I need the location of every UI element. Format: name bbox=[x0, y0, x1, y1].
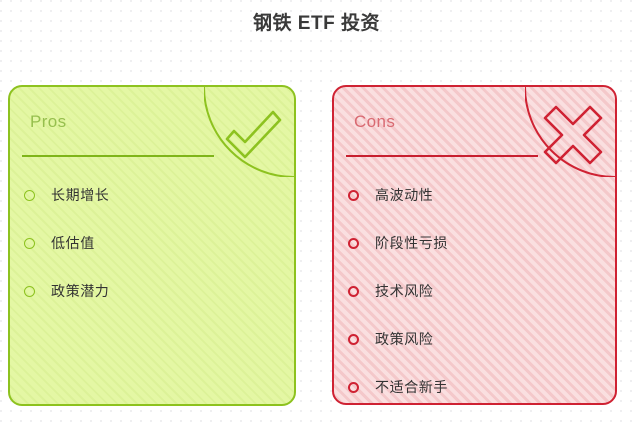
list-item-label: 政策风险 bbox=[375, 329, 433, 349]
cons-item-list: 高波动性 阶段性亏损 技术风险 政策风险 不适合新手 bbox=[346, 171, 607, 405]
pros-card-divider bbox=[22, 155, 214, 157]
list-item[interactable]: 技术风险 bbox=[346, 267, 607, 315]
list-item-label: 阶段性亏损 bbox=[375, 233, 448, 253]
check-mark-icon bbox=[227, 112, 280, 157]
pros-corner-badge bbox=[204, 85, 296, 177]
circle-bullet-icon bbox=[348, 190, 359, 201]
list-item-label: 长期增长 bbox=[51, 185, 109, 205]
circle-bullet-icon bbox=[24, 190, 35, 201]
cross-mark-icon bbox=[545, 107, 601, 163]
list-item[interactable]: 不适合新手 bbox=[346, 363, 607, 405]
pros-card-title: Pros bbox=[30, 112, 67, 132]
list-item-label: 不适合新手 bbox=[375, 377, 448, 397]
list-item[interactable]: 长期增长 bbox=[22, 171, 286, 219]
circle-bullet-icon bbox=[348, 382, 359, 393]
cons-card-divider bbox=[346, 155, 538, 157]
circle-bullet-icon bbox=[348, 238, 359, 249]
list-item[interactable]: 高波动性 bbox=[346, 171, 607, 219]
list-item-label: 技术风险 bbox=[375, 281, 433, 301]
circle-bullet-icon bbox=[24, 286, 35, 297]
circle-bullet-icon bbox=[24, 238, 35, 249]
circle-bullet-icon bbox=[348, 334, 359, 345]
pros-item-list: 长期增长 低估值 政策潜力 bbox=[22, 171, 286, 315]
list-item-label: 高波动性 bbox=[375, 185, 433, 205]
list-item-label: 低估值 bbox=[51, 233, 95, 253]
circle-bullet-icon bbox=[348, 286, 359, 297]
list-item[interactable]: 政策风险 bbox=[346, 315, 607, 363]
page-title: 钢铁 ETF 投资 bbox=[0, 8, 633, 35]
cons-card-title: Cons bbox=[354, 112, 395, 132]
list-item-label: 政策潜力 bbox=[51, 281, 109, 301]
pros-card: Pros 长期增长 低估值 政策潜力 bbox=[8, 85, 296, 406]
list-item[interactable]: 低估值 bbox=[22, 219, 286, 267]
cons-corner-badge bbox=[525, 85, 617, 177]
list-item[interactable]: 政策潜力 bbox=[22, 267, 286, 315]
list-item[interactable]: 阶段性亏损 bbox=[346, 219, 607, 267]
cons-card: Cons 高波动性 阶段性亏损 技术风险 政策风险 不适合新手 bbox=[332, 85, 617, 405]
